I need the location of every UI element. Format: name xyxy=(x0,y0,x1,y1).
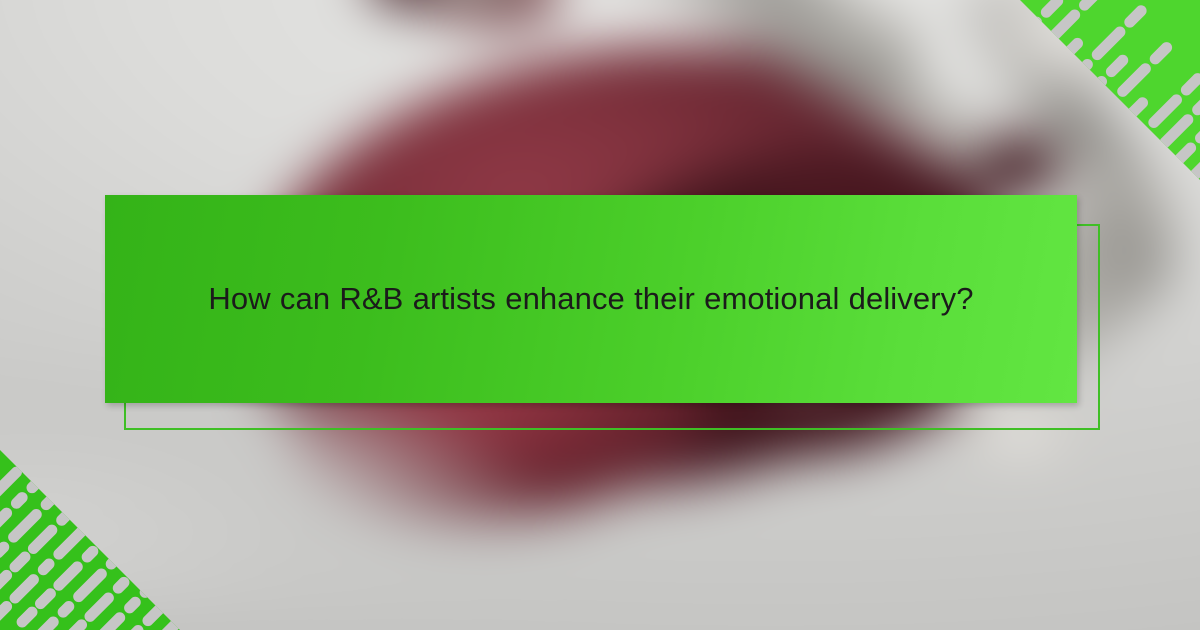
headline-card: How can R&B artists enhance their emotio… xyxy=(105,195,1077,403)
headline-text: How can R&B artists enhance their emotio… xyxy=(208,271,973,327)
social-card-canvas: How can R&B artists enhance their emotio… xyxy=(0,0,1200,630)
